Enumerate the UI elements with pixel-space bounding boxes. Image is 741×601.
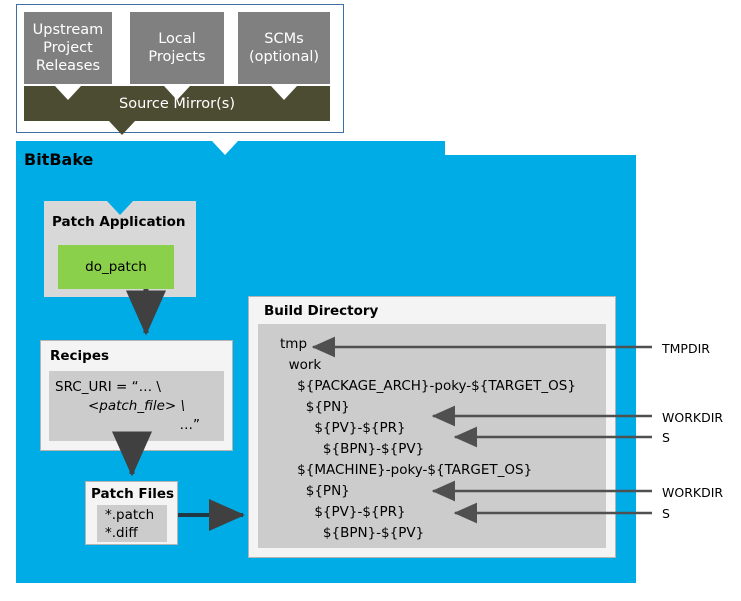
patch-files-item-0: *.patch [105, 506, 167, 524]
callout-label-s-2: S [662, 506, 670, 521]
build-directory-title: Build Directory [264, 303, 378, 319]
source-box-local-projects: Local Projects [130, 12, 224, 84]
tree-line-package-arch: ${PACKAGE_ARCH}-poky-${TARGET_OS} [258, 376, 606, 397]
build-directory-tree: tmp work ${PACKAGE_ARCH}-poky-${TARGET_O… [258, 324, 606, 548]
recipes-code-line-1: SRC_URI = “… \ [55, 378, 218, 397]
tree-line-pv-pr-1: ${PV}-${PR} [258, 418, 606, 439]
callout-label-s-1: S [662, 430, 670, 445]
arrow-mirror-to-bitbake [109, 121, 135, 135]
tree-line-pn-1: ${PN} [258, 397, 606, 418]
recipes-title: Recipes [50, 348, 109, 364]
source-scms-line-2: (optional) [249, 48, 319, 66]
source-local-line-1: Local [148, 30, 205, 48]
do-patch-task-box[interactable]: do_patch [58, 245, 174, 289]
recipes-code-line-3: …” [55, 416, 218, 435]
source-box-upstream-project-releases: Upstream Project Releases [24, 12, 112, 84]
patch-application-title: Patch Application [52, 214, 186, 230]
source-upstream-line-2: Project [33, 39, 104, 57]
tree-line-machine: ${MACHINE}-poky-${TARGET_OS} [258, 460, 606, 481]
source-local-line-2: Projects [148, 48, 205, 66]
source-upstream-line-1: Upstream [33, 21, 104, 39]
callout-label-tmpdir: TMPDIR [662, 341, 710, 356]
source-box-scms-optional: SCMs (optional) [238, 12, 330, 84]
bitbake-label: BitBake [24, 150, 93, 169]
tree-line-pv-pr-2: ${PV}-${PR} [258, 502, 606, 523]
source-scms-line-1: SCMs [249, 30, 319, 48]
recipes-code-line-2: <patch_file> \ [55, 397, 218, 416]
notch-inlet-scms [271, 86, 297, 100]
notch-inlet-local [164, 86, 190, 100]
tree-line-tmp: tmp [258, 334, 606, 355]
patch-files-list: *.patch *.diff [97, 505, 167, 542]
tree-line-bpn-pv-2: ${BPN}-${PV} [258, 523, 606, 544]
source-upstream-line-3: Releases [33, 57, 104, 75]
notch-inlet-patch-application [107, 201, 133, 215]
callout-label-workdir-2: WORKDIR [662, 485, 723, 500]
patch-files-item-1: *.diff [105, 524, 167, 542]
callout-label-workdir-1: WORKDIR [662, 410, 723, 425]
recipes-code-block: SRC_URI = “… \ <patch_file> \ …” [49, 371, 224, 441]
tree-line-bpn-pv-1: ${BPN}-${PV} [258, 439, 606, 460]
notch-inlet-upstream [55, 86, 81, 100]
diagram-canvas: BitBake Upstream Project Releases Local … [0, 0, 741, 601]
tree-line-pn-2: ${PN} [258, 481, 606, 502]
tree-line-work: work [258, 355, 606, 376]
patch-files-title: Patch Files [91, 486, 174, 502]
